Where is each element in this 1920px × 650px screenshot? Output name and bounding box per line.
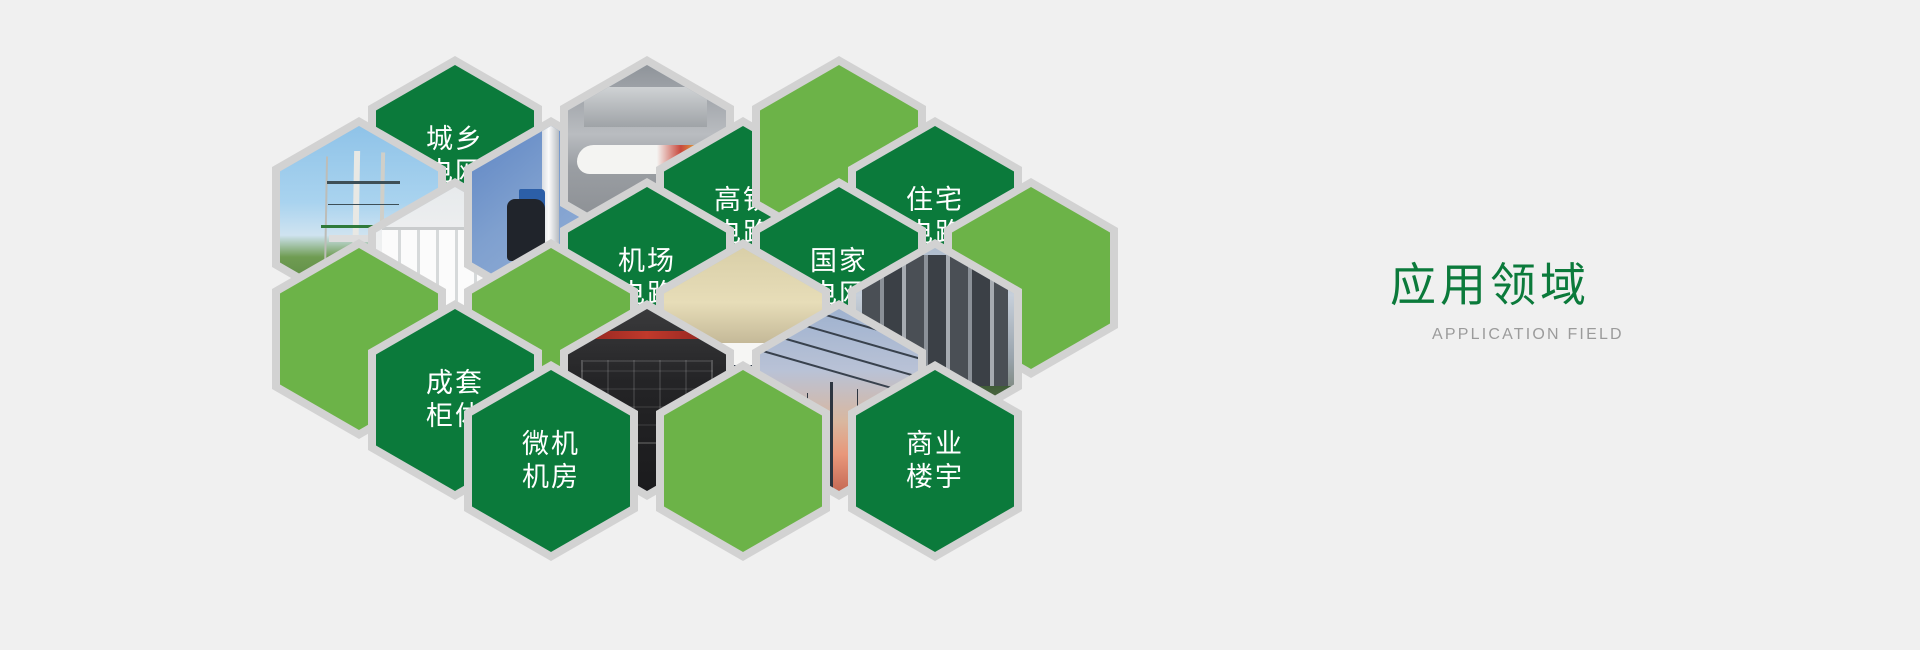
hex-face-commercial-building: 商业 楼宇 bbox=[856, 370, 1014, 552]
heading-block: 应用领域 APPLICATION FIELD bbox=[1390, 262, 1870, 344]
hex-face-accent-bottom bbox=[664, 370, 822, 552]
page-title: 应用领域 bbox=[1390, 262, 1870, 308]
application-field-banner: 城乡 电网高铁 电路住宅 电路国家 电网机场 电路成套 柜体微机 机房商业 楼宇… bbox=[0, 0, 1920, 650]
hexagon-honeycomb: 城乡 电网高铁 电路住宅 电路国家 电网机场 电路成套 柜体微机 机房商业 楼宇 bbox=[0, 0, 1400, 650]
hex-face-computer-room: 微机 机房 bbox=[472, 370, 630, 552]
page-subtitle: APPLICATION FIELD bbox=[1432, 326, 1870, 344]
hex-label-computer-room: 微机 机房 bbox=[522, 428, 580, 494]
hex-label-commercial-building: 商业 楼宇 bbox=[906, 428, 964, 494]
